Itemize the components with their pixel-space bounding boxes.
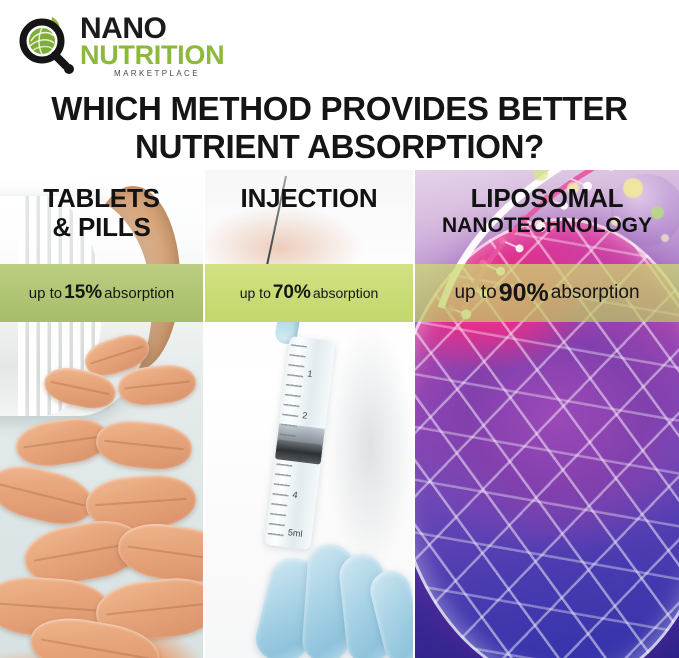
liposome-photo [415,170,679,658]
comparison-columns: TABLETS & PILLS up to 15% absorption 1 2 [0,170,679,658]
comparison-column-liposomal-nanotechnology: LIPOSOMAL NANOTECHNOLOGY up to 90% absor… [415,170,679,658]
brand-name-line1: NANO [80,16,310,42]
page-title: WHICH METHOD PROVIDES BETTER NUTRIENT AB… [0,90,679,166]
absorption-value: 15% [62,282,104,304]
absorption-prefix: up to [454,282,496,304]
absorption-suffix: absorption [104,285,174,302]
headline-line-2: NUTRIENT ABSORPTION? [0,128,679,166]
brand-logo[interactable]: NANO NUTRITION MARKETPLACE [18,8,318,80]
headline-line-1: WHICH METHOD PROVIDES BETTER [0,90,679,128]
brand-name-line2: NUTRITION [80,42,310,68]
tablet [94,417,194,473]
method-title-liposomal-nanotechnology: LIPOSOMAL NANOTECHNOLOGY [415,184,679,240]
brand-wordmark: NANO NUTRITION MARKETPLACE [80,16,310,80]
absorption-prefix: up to [240,285,271,301]
method-title-injection: INJECTION [205,184,413,213]
absorption-value: 70% [271,282,313,304]
pill-bottle-photo [0,170,203,658]
comparison-column-tablets-pills: TABLETS & PILLS up to 15% absorption [0,170,203,658]
column-divider [413,170,415,658]
absorption-band-injection: up to 70% absorption [205,264,413,322]
absorption-suffix: absorption [313,285,378,301]
tablet [0,458,99,532]
comparison-column-injection: 1 2 3 4 5ml INJECTION up to 70% absorpti… [205,170,413,658]
infographic-canvas: NANO NUTRITION MARKETPLACE WHICH METHOD … [0,0,679,658]
absorption-value: 90% [497,279,551,308]
syringe-scale-mark: 1 [307,368,313,379]
absorption-band-tablets-pills: up to 15% absorption [0,264,203,322]
syringe-scale-mark: 2 [302,410,308,421]
absorption-band-liposomal-nanotechnology: up to 90% absorption [415,264,679,322]
magnifier-leaf-icon [18,14,80,76]
absorption-suffix: absorption [551,282,640,304]
method-title-line-1: TABLETS [0,184,203,213]
absorption-prefix: up to [29,285,62,302]
method-title-line-1: INJECTION [205,184,413,213]
method-title-line-2: NANOTECHNOLOGY [415,212,679,240]
method-title-line-1: LIPOSOMAL [415,184,679,212]
method-title-tablets-pills: TABLETS & PILLS [0,184,203,242]
column-divider [203,170,205,658]
method-title-line-2: & PILLS [0,213,203,242]
syringe-scale-mark: 4 [292,490,298,501]
syringe-photo: 1 2 3 4 5ml [205,170,413,658]
syringe-scale-mark: 5ml [287,527,303,539]
